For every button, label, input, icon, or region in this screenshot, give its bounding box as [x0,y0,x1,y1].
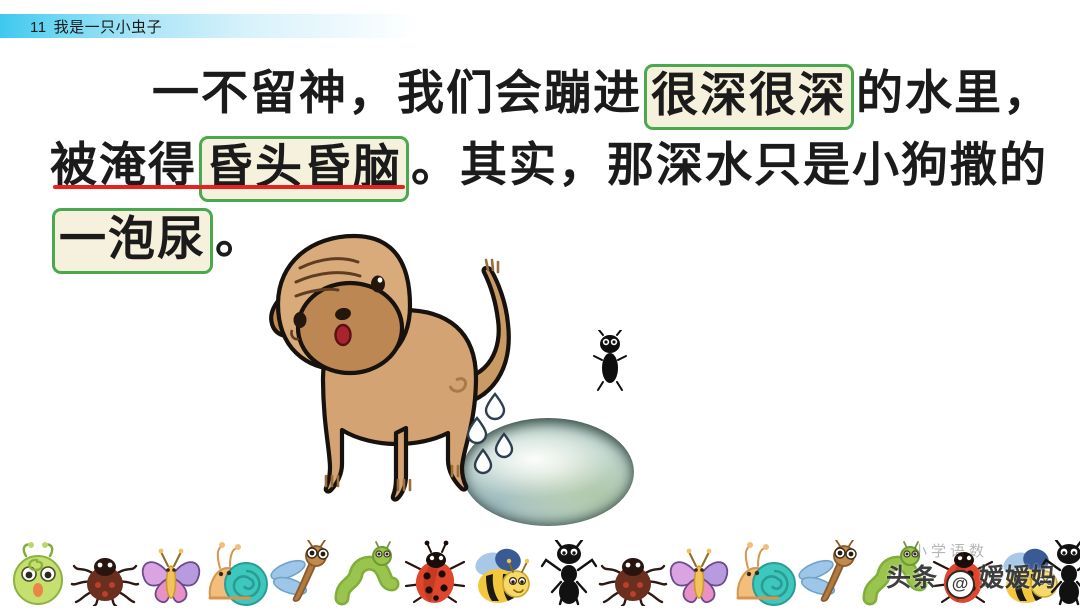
dog-right-eye-glint [378,277,383,282]
line2-part-3: 。其实，那深水只是小狗撒的 [411,130,1048,202]
page-title: 11我是一只小虫子 [30,16,162,37]
watermark: 小学语数 头条@嫒嫒妈 [886,538,1072,600]
line1-highlight-box: 很深很深 [644,64,854,130]
bug-butterfly-icon-2 [664,540,734,606]
watermark-at-icon: @ [946,570,975,599]
bug-snail-icon-2 [730,540,800,606]
bug-spider-icon [70,540,140,606]
dog-right-eye [371,276,385,293]
black-bug-icon [592,330,628,392]
bug-bee-icon [466,540,536,606]
bug-dragonfly-icon-2 [796,540,866,606]
water-drops-icon [455,388,565,483]
red-underline [53,185,405,189]
passage-line-1: 一不留神，我们会蹦进很深很深的水里， [0,58,1080,130]
bug-caterpillar-green-icon [4,540,74,606]
watermark-brand: 头条 [886,564,938,592]
passage-line-3: 一泡尿。 [0,202,1080,274]
passage-line-2: 被淹得昏头昏脑。其实，那深水只是小狗撒的 [0,130,1080,202]
bug-butterfly-icon [136,540,206,606]
line2-part-1: 被淹得 [50,130,197,202]
bug-spider-icon-2 [598,540,668,606]
dog-muzzle [298,283,402,373]
lesson-number: 11 [30,19,47,36]
passage-text: 一不留神，我们会蹦进很深很深的水里， 被淹得昏头昏脑。其实，那深水只是小狗撒的 … [0,58,1080,274]
bug-caterpillar-icon [334,540,404,606]
watermark-handle: 嫒嫒妈 [979,564,1057,592]
dog-mouth [336,325,351,345]
line3-highlight-box: 一泡尿 [52,208,213,274]
bug-dragonfly-icon [268,540,338,606]
bug-ladybug-icon [400,540,470,606]
dog-left-eye [294,312,307,328]
line1-part-1: 一不留神，我们会蹦进 [152,58,642,130]
watermark-main: 头条@嫒嫒妈 [886,558,1057,599]
line2-highlight-box: 昏头昏脑 [199,136,409,202]
line1-part-3: 的水里， [856,58,1052,130]
lesson-title: 我是一只小虫子 [54,19,163,36]
bug-ant-icon [532,540,602,606]
line3-part-2: 。 [215,202,264,274]
bug-snail-icon [202,540,272,606]
